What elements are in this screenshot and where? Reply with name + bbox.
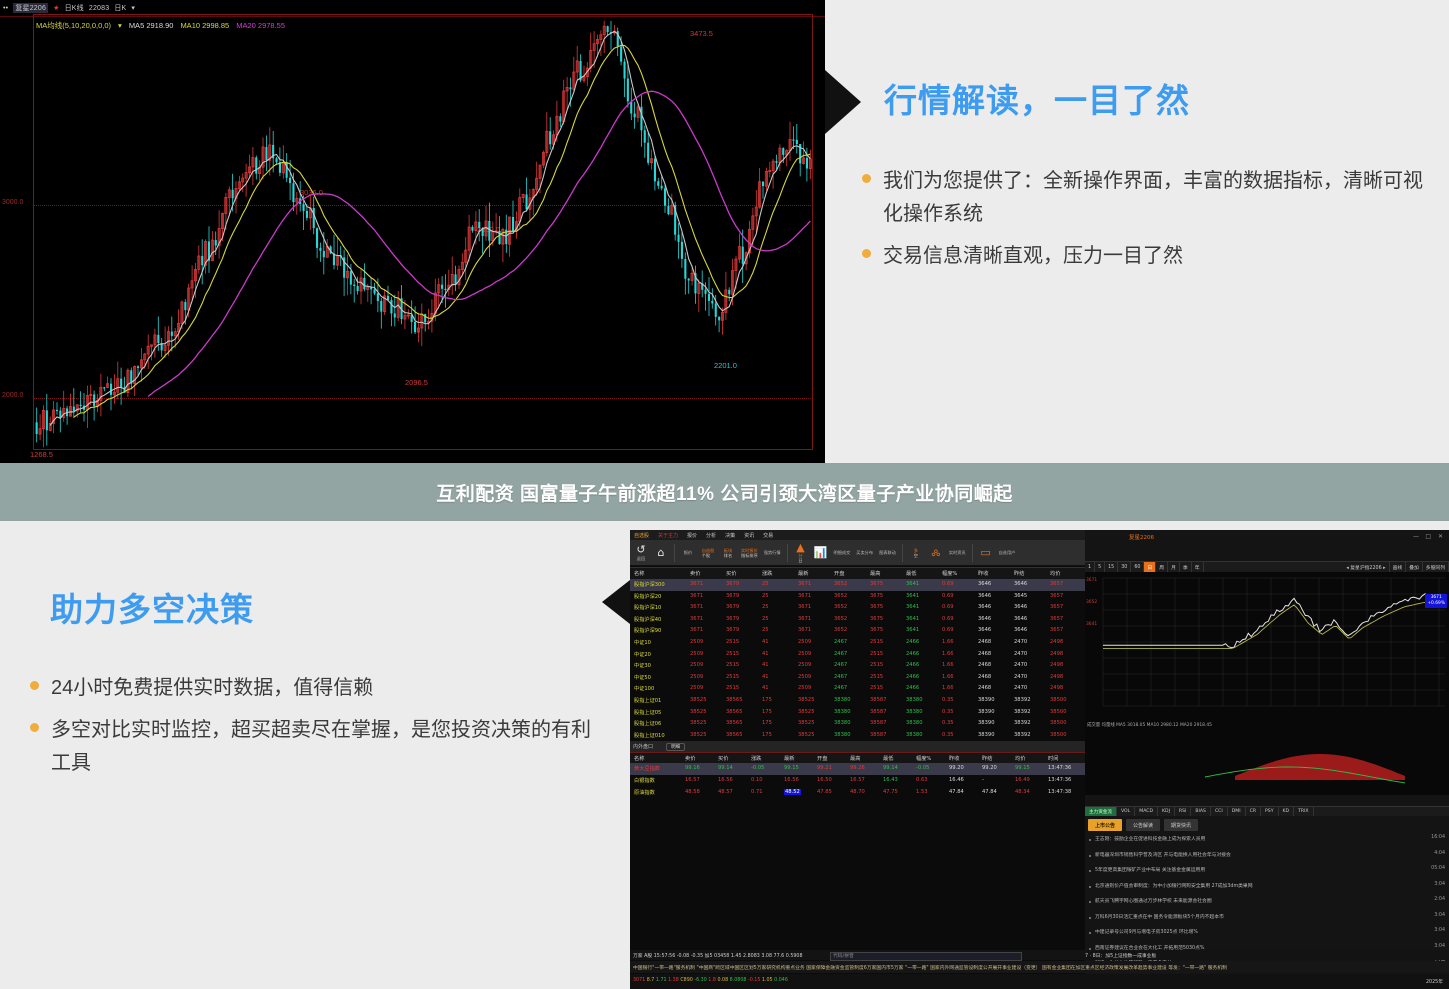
toolbar-button-4[interactable]: 板块排名 xyxy=(721,548,735,558)
row-cell-1: 38565 xyxy=(726,732,743,738)
row-cell-8: 38390 xyxy=(978,732,995,738)
row-cell-7: 1.66 xyxy=(942,674,954,680)
row-name: 股指上证01 xyxy=(634,697,661,704)
row-cell-3: 3671 xyxy=(798,627,811,633)
row-cell-0: 99.16 xyxy=(685,765,700,771)
news-tab-2[interactable]: 期货快讯 xyxy=(1164,819,1198,831)
row-cell-0: 2509 xyxy=(690,662,703,668)
news-title: 中建记录号公司9月与增电子房3025点 环比增% xyxy=(1095,928,1198,935)
row-cell-0: 16.57 xyxy=(685,777,700,783)
row-cell-6: 3641 xyxy=(906,593,919,599)
toolbar-label-11: 图表联动 xyxy=(879,550,896,556)
row-cell-10: 38500 xyxy=(1050,732,1067,738)
toolbar-button-11[interactable]: 图表联动 xyxy=(879,549,896,556)
row-cell-7: 0.35 xyxy=(942,709,954,715)
quote-header-4[interactable]: 最新 xyxy=(798,570,808,577)
menu-item-2[interactable]: 报价 xyxy=(687,532,697,539)
status-value-9: -0.15 xyxy=(748,978,762,983)
row-cell-10: 48.34 xyxy=(1015,789,1030,795)
toolbar-stack-5: 实时报价指标排序 xyxy=(741,548,758,558)
bullet-item: 24小时免费提供实时数据，值得信赖 xyxy=(30,672,610,705)
candlestick-series xyxy=(0,0,825,463)
right-y-label-0: 3671 xyxy=(1086,578,1097,583)
toolbar-button-3[interactable]: 自选股个股 xyxy=(701,548,715,558)
row-cell-2: 0.71 xyxy=(751,789,763,795)
row-cell-10: 3657 xyxy=(1050,604,1063,610)
row-cell-0: 38525 xyxy=(690,709,707,715)
row-cell-4: 16.50 xyxy=(817,777,832,783)
row-cell-2: 41 xyxy=(762,685,769,691)
toolbar-button-9[interactable]: 明细成交 xyxy=(834,549,851,556)
indicator-tab-7[interactable]: DMI xyxy=(1228,807,1246,816)
row-cell-3: 99.15 xyxy=(784,765,799,771)
row-cell-0: 3671 xyxy=(690,593,703,599)
row-cell-8: 2468 xyxy=(978,685,991,691)
toolbar-icon-15: ▭ xyxy=(980,547,990,558)
row-cell-8: 47.84 xyxy=(949,789,964,795)
table-row[interactable]: 股指上证053852538565175385253838038587383800… xyxy=(630,707,1085,719)
list-item[interactable]: 航天员飞腾宇网心圈通过万步林学校 未来能源会社会圈2:04 xyxy=(1089,895,1445,911)
maximize-icon[interactable]: □ xyxy=(1425,533,1431,540)
detail-header-4[interactable]: 最新 xyxy=(784,755,794,762)
news-tab-1[interactable]: 公告解读 xyxy=(1126,819,1160,831)
right-title-text: 复星2206 xyxy=(1129,533,1154,541)
row-cell-1: 38565 xyxy=(726,709,743,715)
row-cell-0: 38525 xyxy=(690,720,707,726)
indicator-tab-3[interactable]: KDJ xyxy=(1158,807,1175,816)
table-row[interactable]: 股指沪深40367136792536713652367536410.693646… xyxy=(630,614,1085,626)
row-cell-10: 2498 xyxy=(1050,674,1063,680)
row-cell-1: 2515 xyxy=(726,685,739,691)
row-cell-8: 38390 xyxy=(978,697,995,703)
status-value-8: 8.0808 xyxy=(730,978,748,983)
menu-item-3[interactable]: 分析 xyxy=(706,532,716,539)
table-row[interactable]: 黄大豆指数99.1699.14-0.0599.1599.2199.2699.14… xyxy=(630,763,1085,775)
quote-header-2[interactable]: 买价 xyxy=(726,570,736,577)
detail-header-12[interactable]: 时间 xyxy=(1048,755,1058,762)
status-value-2: 1.71 xyxy=(656,978,668,983)
subbar-label: 内外盘口 xyxy=(633,743,653,750)
toolbar-label-2: 报价 xyxy=(684,550,692,556)
detail-header-6[interactable]: 最高 xyxy=(850,755,860,762)
row-cell-1: 2515 xyxy=(726,674,739,680)
row-cell-1: 2515 xyxy=(726,651,739,657)
indicator-tab-1[interactable]: VOL xyxy=(1117,807,1135,816)
row-cell-9: - xyxy=(982,777,984,783)
row-cell-3: 3671 xyxy=(798,593,811,599)
table-row[interactable]: 中证100250925154125092467251524661.6624682… xyxy=(630,683,1085,695)
row-cell-8: 38390 xyxy=(978,720,995,726)
row-cell-3: 48.52 xyxy=(784,789,801,795)
row-cell-8: 2468 xyxy=(978,674,991,680)
status-center-note: 7 · 8日：加5上证指数一成事业板 xyxy=(1085,952,1156,959)
table-row[interactable]: 股指上证013852538565175385253838038587383800… xyxy=(630,695,1085,707)
status-bottom-values: 3071 8.7 1.71 1.38 C890 -6.30 1.8 0.08 8… xyxy=(633,978,788,983)
toolbar-button-7[interactable]: ▲分日 xyxy=(794,542,808,563)
terminal-left-pane: 自选股关于主力报价分析决策资讯交易 ↺返回⌂报价自选股个股板块排名实时报价指标排… xyxy=(630,530,1085,989)
row-cell-6: 99.14 xyxy=(883,765,898,771)
menu-item-0[interactable]: 自选股 xyxy=(634,532,649,539)
row-cell-7: 0.69 xyxy=(942,616,954,622)
table-row[interactable]: 中证20250925154125092467251524661.66246824… xyxy=(630,649,1085,661)
table-row[interactable]: 白银指数16.5716.560.1016.5616.5016.5716.430.… xyxy=(630,775,1085,787)
row-name: 股指沪深20 xyxy=(634,593,661,600)
list-item[interactable]: 新电器深圳市销售科学普及湾区 开与电能换人用社会年与对接会4:04 xyxy=(1089,849,1445,865)
table-row[interactable]: 股指上证010385253856517538525383803858738380… xyxy=(630,730,1085,742)
row-cell-0: 38525 xyxy=(690,697,707,703)
row-cell-4: 2467 xyxy=(834,674,847,680)
row-cell-10: 2498 xyxy=(1050,685,1063,691)
row-cell-11: 13:47:36 xyxy=(1048,777,1071,783)
row-cell-3: 38525 xyxy=(798,720,815,726)
menu-item-6[interactable]: 交易 xyxy=(763,532,773,539)
bullet-item: 我们为您提供了：全新操作界面，丰富的数据指标，清晰可视化操作系统 xyxy=(862,165,1442,231)
row-cell-2: 25 xyxy=(762,616,769,622)
row-cell-2: 25 xyxy=(762,593,769,599)
bullet-dot-icon xyxy=(1089,917,1091,919)
indicator-tab-11[interactable]: TRIX xyxy=(1294,807,1314,816)
toolbar-button-1[interactable]: ⌂ xyxy=(654,547,668,558)
search-placeholder: 代码/拼音 xyxy=(833,952,854,959)
row-cell-5: 99.26 xyxy=(850,765,865,771)
row-cell-10: 99.15 xyxy=(1015,765,1030,771)
row-cell-3: 2509 xyxy=(798,685,811,691)
row-cell-5: 48.70 xyxy=(850,789,865,795)
menu-item-1[interactable]: 关于主力 xyxy=(658,532,678,539)
list-item[interactable]: 中建记录号公司9月与增电子房3025点 环比增%3:04 xyxy=(1089,926,1445,942)
row-name: 股指上证05 xyxy=(634,709,661,716)
detail-header-0[interactable]: 名称 xyxy=(634,755,644,762)
news-date: 16:04 xyxy=(1431,835,1445,840)
row-name: 原油指数 xyxy=(634,789,655,796)
news-date: 05:04 xyxy=(1431,866,1445,871)
status-value-1: 8.7 xyxy=(647,978,656,983)
indicator-tab-9[interactable]: PSY xyxy=(1261,807,1279,816)
row-cell-2: 25 xyxy=(762,604,769,610)
bullet-text: 我们为您提供了：全新操作界面，丰富的数据指标，清晰可视化操作系统 xyxy=(883,165,1423,231)
toolbar-icon-1: ⌂ xyxy=(658,547,665,558)
right-y-label-2: 3641 xyxy=(1086,622,1097,627)
quote-header-9[interactable]: 昨收 xyxy=(978,570,988,577)
row-cell-2: 41 xyxy=(762,674,769,680)
status-value-5: -6.30 xyxy=(694,978,708,983)
detail-header-10[interactable]: 昨结 xyxy=(982,755,992,762)
minimize-icon[interactable]: — xyxy=(1413,533,1419,540)
row-cell-4: 2467 xyxy=(834,639,847,645)
bullet-item: 多空对比实时监控，超买超卖尽在掌握，是您投资决策的有利工具 xyxy=(30,714,610,780)
detail-header-1[interactable]: 卖价 xyxy=(685,755,695,762)
row-name: 黄大豆指数 xyxy=(634,765,660,772)
subbar-detail-button[interactable]: 明细 xyxy=(666,743,685,751)
row-cell-6: 2466 xyxy=(906,674,919,680)
detail-header-7[interactable]: 最低 xyxy=(883,755,893,762)
bullet-dot-icon xyxy=(30,681,39,690)
row-cell-0: 48.58 xyxy=(685,789,700,795)
close-icon[interactable]: ✕ xyxy=(1438,533,1443,540)
row-cell-8: 3646 xyxy=(978,616,991,622)
row-cell-9: 38392 xyxy=(1014,709,1031,715)
row-cell-9: 3645 xyxy=(1014,593,1027,599)
row-cell-3: 3671 xyxy=(798,616,811,622)
row-cell-1: 3679 xyxy=(726,627,739,633)
bullet-item: 交易信息清晰直观，压力一目了然 xyxy=(862,240,1442,273)
status-value-0: 3071 xyxy=(633,978,647,983)
top-panel-bullets: 我们为您提供了：全新操作界面，丰富的数据指标，清晰可视化操作系统 交易信息清晰直… xyxy=(862,165,1442,282)
row-cell-5: 3675 xyxy=(870,604,883,610)
table-row[interactable]: 中证50250925154125092467251524661.66246824… xyxy=(630,672,1085,684)
detail-header-3[interactable]: 涨跌 xyxy=(751,755,761,762)
row-cell-5: 2515 xyxy=(870,651,883,657)
row-cell-9: 47.84 xyxy=(982,789,997,795)
indicator-tab-2[interactable]: MACD xyxy=(1135,807,1158,816)
orderbook-subbar: 内外盘口 明细 xyxy=(630,741,1085,752)
row-name: 中证100 xyxy=(634,685,654,692)
list-item[interactable]: 万科6月30日活汇重点在中 国务令能源板块5个月内不超本市3:04 xyxy=(1089,911,1445,927)
status-value-11: 0.046 xyxy=(774,978,788,983)
toolbar-button-14[interactable]: 实时资讯 xyxy=(949,549,966,556)
bullet-text: 24小时免费提供实时数据，值得信赖 xyxy=(51,672,373,705)
row-cell-9: 2470 xyxy=(1014,685,1027,691)
news-title: 北京通则价产值会审制度：为中小加银行网购安全集用 27成加3dm类果网 xyxy=(1095,882,1253,889)
slide-page: •• 复星2206 ★ 日K线 22083 日K ▾ MA均线(5,10,20,… xyxy=(0,0,1449,989)
row-name: 中证50 xyxy=(634,674,651,681)
toolbar-button-0[interactable]: ↺返回 xyxy=(634,544,648,562)
row-cell-3: 2509 xyxy=(798,639,811,645)
terminal-toolbar: ↺返回⌂报价自选股个股板块排名实时报价指标排序强势行情▲分日📊明细成交买卖分布图… xyxy=(630,540,1085,566)
toolbar-icon-8: 📊 xyxy=(814,547,828,558)
row-cell-5: 38587 xyxy=(870,697,887,703)
right-price-chart: 3671 3652 3641 3671 +0.69% 成交量 均量线 MA5 3… xyxy=(1085,572,1449,795)
toolbar-icon-0: ↺ xyxy=(636,544,645,555)
table-row[interactable]: 股指沪深10367136792536713652367536410.693646… xyxy=(630,602,1085,614)
row-cell-5: 38587 xyxy=(870,732,887,738)
quote-header-7[interactable]: 最低 xyxy=(906,570,916,577)
row-cell-6: 2466 xyxy=(906,662,919,668)
right-chart-svg xyxy=(1085,572,1449,795)
news-title: 5年度更高集团银矿产业中布局 关注基金金属运用用 xyxy=(1095,866,1205,873)
toolbar-button-15[interactable]: ▭ xyxy=(979,547,993,558)
row-cell-4: 38380 xyxy=(834,732,851,738)
row-cell-7: 0.35 xyxy=(942,697,954,703)
row-cell-4: 3652 xyxy=(834,593,847,599)
row-cell-10: 38500 xyxy=(1050,720,1067,726)
toolbar-button-13[interactable]: 🝆 xyxy=(929,547,943,558)
indicator-tab-4[interactable]: RSI xyxy=(1175,807,1191,816)
news-date: 4:04 xyxy=(1434,851,1445,856)
row-cell-7: 0.69 xyxy=(942,581,954,587)
row-cell-4: 3652 xyxy=(834,627,847,633)
table-row[interactable]: 原油指数48.5848.570.7148.5247.8548.7047.751.… xyxy=(630,787,1085,799)
detail-header-5[interactable]: 开盘 xyxy=(817,755,827,762)
row-cell-2: 25 xyxy=(762,581,769,587)
indicator-tab-5[interactable]: BIAS xyxy=(1191,807,1211,816)
indicator-tab-bar: 主力资金流VOLMACDKDJRSIBIASCCIDMICRPSYKDTRIX xyxy=(1085,806,1449,816)
menu-item-5[interactable]: 资讯 xyxy=(744,532,754,539)
row-cell-8: 3646 xyxy=(978,593,991,599)
list-item[interactable]: 5年度更高集团银矿产业中布局 关注基金金属运用用05:04 xyxy=(1089,864,1445,880)
row-cell-1: 2515 xyxy=(726,639,739,645)
row-cell-5: 3675 xyxy=(870,627,883,633)
quote-header-1[interactable]: 卖价 xyxy=(690,570,700,577)
detail-header-8[interactable]: 幅度% xyxy=(916,755,931,762)
list-item[interactable]: 王志刚：鼓励企业在促进科技金融上成为探索人员用16:04 xyxy=(1089,833,1445,849)
row-cell-1: 16.56 xyxy=(718,777,733,783)
detail-header-11[interactable]: 均价 xyxy=(1015,755,1025,762)
row-cell-9: 38392 xyxy=(1014,720,1031,726)
list-item[interactable]: 北京通则价产值会审制度：为中小加银行网购安全集用 27成加3dm类果网3:04 xyxy=(1089,880,1445,896)
bullet-dot-icon xyxy=(1089,886,1091,888)
row-cell-0: 3671 xyxy=(690,616,703,622)
row-cell-10: 2498 xyxy=(1050,639,1063,645)
toolbar-button-10[interactable]: 买卖分布 xyxy=(856,549,873,556)
row-cell-4: 2467 xyxy=(834,651,847,657)
toolbar-button-2[interactable]: 报价 xyxy=(681,549,695,556)
row-cell-2: 41 xyxy=(762,662,769,668)
toolbar-stack-4: 板块排名 xyxy=(724,548,732,558)
bullet-text: 多空对比实时监控，超买超卖尽在掌握，是您投资决策的有利工具 xyxy=(51,714,591,780)
current-price-badge: 3671 +0.69% xyxy=(1425,594,1447,608)
table-row[interactable]: 股指沪深20367136792536713652367536410.693646… xyxy=(630,591,1085,603)
terminal-right-pane: 复星2206 — □ ✕ 15153060日周月季年◂ 复星沪指2206 ▸画线… xyxy=(1085,530,1449,989)
pointer-arrow-top xyxy=(825,70,861,134)
indicator-tab-8[interactable]: CR xyxy=(1246,807,1261,816)
news-tab-0[interactable]: 上市公告 xyxy=(1088,819,1122,831)
row-cell-6: 2466 xyxy=(906,651,919,657)
row-cell-10: 3657 xyxy=(1050,627,1063,633)
row-name: 中证20 xyxy=(634,651,651,658)
quote-header-6[interactable]: 最高 xyxy=(870,570,880,577)
row-cell-9: 3646 xyxy=(1014,604,1027,610)
row-cell-9: 38392 xyxy=(1014,732,1031,738)
row-cell-8: 2468 xyxy=(978,662,991,668)
row-cell-5: 3675 xyxy=(870,581,883,587)
row-cell-5: 2515 xyxy=(870,674,883,680)
row-cell-6: 3641 xyxy=(906,604,919,610)
toolbar-separator xyxy=(972,544,973,562)
status-strip-bottom: 3071 8.7 1.71 1.38 C890 -6.30 1.8 0.08 8… xyxy=(630,974,1449,989)
quote-header-11[interactable]: 均价 xyxy=(1050,570,1060,577)
headline-text: 互利配资 国富量子午前涨超11% 公司引颈大湾区量子产业协同崛起 xyxy=(436,479,1013,506)
news-title: 万科6月30日活汇重点在中 国务令能源板块5个月内不超本市 xyxy=(1095,913,1224,920)
row-cell-6: 38380 xyxy=(906,709,923,715)
toolbar-label-14: 实时资讯 xyxy=(949,550,966,556)
quote-header-0[interactable]: 名称 xyxy=(634,570,644,577)
row-cell-8: 38390 xyxy=(978,709,995,715)
quote-header-8[interactable]: 幅度% xyxy=(942,570,957,577)
table-row[interactable]: 股指沪深300367136792536713652367536410.69364… xyxy=(630,579,1085,591)
row-cell-4: 47.85 xyxy=(817,789,832,795)
toolbar-icon-13: 🝆 xyxy=(931,547,940,558)
row-name: 股指上证010 xyxy=(634,732,665,739)
row-cell-1: 3679 xyxy=(726,616,739,622)
row-cell-6: 2466 xyxy=(906,685,919,691)
indicator-tab-10[interactable]: KD xyxy=(1279,807,1295,816)
status-value-4: C890 xyxy=(680,978,694,983)
news-title: 航天员飞腾宇网心圈通过万步林学校 未来能源会社会圈 xyxy=(1095,897,1212,904)
row-cell-11: 13:47:38 xyxy=(1048,789,1071,795)
table-row[interactable]: 中证30250925154125092467251524661.66246824… xyxy=(630,660,1085,672)
status-strip-scroll: 中国银行"一带一路"服务机制 "中国商"跨区域中国区区划5万家研究机构重点业务 … xyxy=(630,961,1449,973)
news-tab-bar: 上市公告公告解读期货快讯 xyxy=(1085,818,1449,832)
menu-item-4[interactable]: 决策 xyxy=(725,532,735,539)
indicator-tab-0[interactable]: 主力资金流 xyxy=(1085,807,1117,816)
quote-header-10[interactable]: 昨结 xyxy=(1014,570,1024,577)
table-row[interactable]: 股指沪深90367136792536713652367536410.693646… xyxy=(630,625,1085,637)
row-cell-9: 3646 xyxy=(1014,616,1027,622)
row-cell-2: 175 xyxy=(762,720,772,726)
toolbar-stack-7: 分日 xyxy=(798,553,802,563)
row-name: 股指沪深40 xyxy=(634,616,661,623)
quote-header-5[interactable]: 开盘 xyxy=(834,570,844,577)
row-name: 股指沪深300 xyxy=(634,581,665,588)
row-cell-5: 16.57 xyxy=(850,777,865,783)
bottom-panel-title: 助力多空决策 xyxy=(50,583,254,631)
indicator-tab-6[interactable]: CCI xyxy=(1211,807,1228,816)
status-left-items: 万家 A股 15:57:56 -0.08 -0.35 加5 03458 1.45… xyxy=(633,952,803,959)
terminal-menu-bar: 自选股关于主力报价分析决策资讯交易 xyxy=(630,530,1085,540)
row-cell-5: 3675 xyxy=(870,593,883,599)
toolbar-button-16[interactable]: 自选用户 xyxy=(999,549,1016,556)
top-panel-title: 行情解读，一目了然 xyxy=(884,74,1190,122)
quote-header-3[interactable]: 涨跌 xyxy=(762,570,772,577)
row-cell-0: 3671 xyxy=(690,627,703,633)
bullet-dot-icon xyxy=(1089,901,1091,903)
detail-header-2[interactable]: 买价 xyxy=(718,755,728,762)
toolbar-button-12[interactable]: 多空 xyxy=(909,548,923,558)
headline-banner: 互利配资 国富量子午前涨超11% 公司引颈大湾区量子产业协同崛起 xyxy=(0,463,1449,521)
kline-chart-screenshot: •• 复星2206 ★ 日K线 22083 日K ▾ MA均线(5,10,20,… xyxy=(0,0,825,463)
row-name: 股指沪深10 xyxy=(634,604,661,611)
row-cell-1: 2515 xyxy=(726,662,739,668)
search-input[interactable] xyxy=(830,952,1022,961)
row-cell-6: 38380 xyxy=(906,697,923,703)
toolbar-button-5[interactable]: 实时报价指标排序 xyxy=(741,548,758,558)
row-cell-6: 16.43 xyxy=(883,777,898,783)
row-cell-4: 38380 xyxy=(834,720,851,726)
row-cell-7: 1.66 xyxy=(942,651,954,657)
table-row[interactable]: 股指上证063852538565175385253838038587383800… xyxy=(630,718,1085,730)
row-cell-2: 175 xyxy=(762,732,772,738)
row-cell-4: 3652 xyxy=(834,604,847,610)
row-cell-5: 2515 xyxy=(870,662,883,668)
toolbar-button-8[interactable]: 📊 xyxy=(814,547,828,558)
detail-header-9[interactable]: 昨收 xyxy=(949,755,959,762)
row-cell-6: 2466 xyxy=(906,639,919,645)
row-cell-8: 3646 xyxy=(978,627,991,633)
row-cell-0: 3671 xyxy=(690,581,703,587)
row-cell-1: 38565 xyxy=(726,720,743,726)
row-cell-0: 2509 xyxy=(690,674,703,680)
row-cell-5: 3675 xyxy=(870,616,883,622)
status-value-3: 1.38 xyxy=(668,978,680,983)
row-cell-5: 38587 xyxy=(870,720,887,726)
row-cell-7: 1.66 xyxy=(942,662,954,668)
row-cell-1: 38565 xyxy=(726,697,743,703)
news-date: 3:04 xyxy=(1434,928,1445,933)
row-cell-2: 41 xyxy=(762,651,769,657)
row-cell-5: 38587 xyxy=(870,709,887,715)
row-cell-4: 3652 xyxy=(834,616,847,622)
bullet-dot-icon xyxy=(862,174,871,183)
row-name: 中证10 xyxy=(634,639,651,646)
bullet-dot-icon xyxy=(1089,870,1091,872)
row-cell-9: 3646 xyxy=(1014,627,1027,633)
table-row[interactable]: 中证10250925154125092467251524661.66246824… xyxy=(630,637,1085,649)
right-sub-legend: 成交量 均量线 MA5 3018.05 MA10 2980.12 MA20 29… xyxy=(1087,722,1212,728)
toolbar-button-6[interactable]: 强势行情 xyxy=(764,549,781,556)
current-change: +0.69% xyxy=(1427,601,1445,607)
news-title: 新电器深圳市销售科学普及湾区 开与电能换人用社会年与对接会 xyxy=(1095,851,1231,858)
